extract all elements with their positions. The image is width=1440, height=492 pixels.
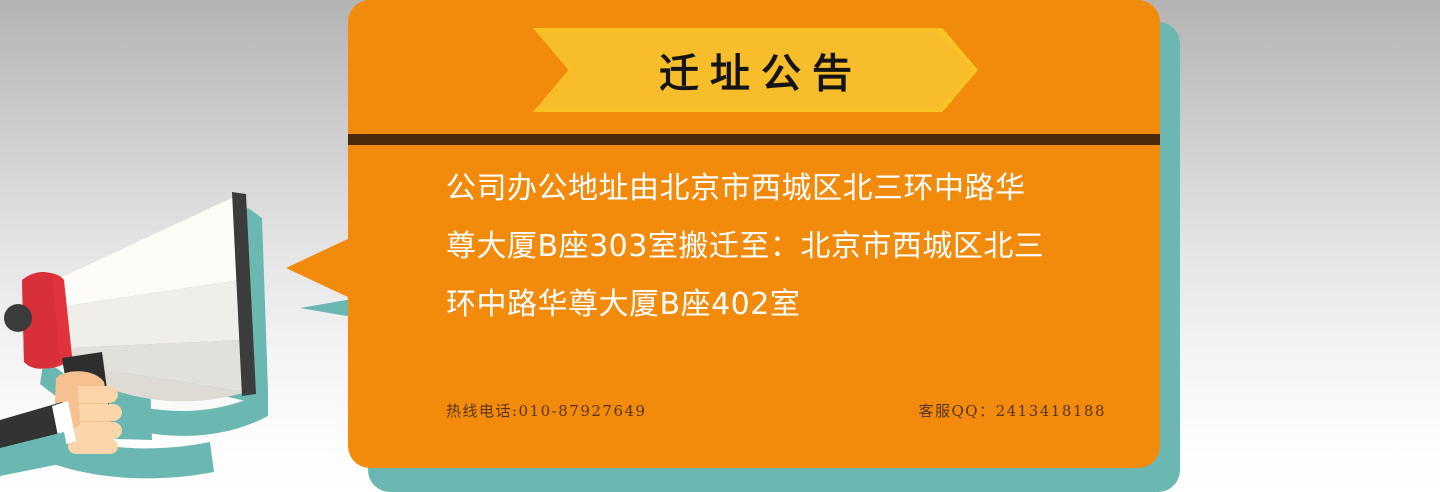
qq-text: 客服QQ：2413418188 [918, 400, 1106, 421]
hotline-text: 热线电话:010-87927649 [446, 400, 647, 421]
speech-bubble-tail [286, 238, 350, 298]
megaphone-mouthpiece [4, 272, 72, 369]
announcement-body: 公司办公地址由北京市西城区北三环中路华 尊大厦B座303室搬迁至：北京市西城区北… [446, 160, 1106, 334]
body-line-1: 公司办公地址由北京市西城区北三环中路华 [446, 160, 1106, 218]
announcement-banner: 迁址公告 公司办公地址由北京市西城区北三环中路华 尊大厦B座303室搬迁至：北京… [0, 0, 1440, 492]
divider [348, 134, 1160, 145]
megaphone-illustration [0, 180, 330, 492]
body-line-2: 尊大厦B座303室搬迁至：北京市西城区北三 [446, 218, 1106, 276]
page-title: 迁址公告 [533, 28, 978, 112]
contact-footer: 热线电话:010-87927649 客服QQ：2413418188 [446, 400, 1106, 421]
body-line-3: 环中路华尊大厦B座402室 [446, 276, 1106, 334]
announcement-card: 迁址公告 公司办公地址由北京市西城区北三环中路华 尊大厦B座303室搬迁至：北京… [348, 0, 1160, 468]
